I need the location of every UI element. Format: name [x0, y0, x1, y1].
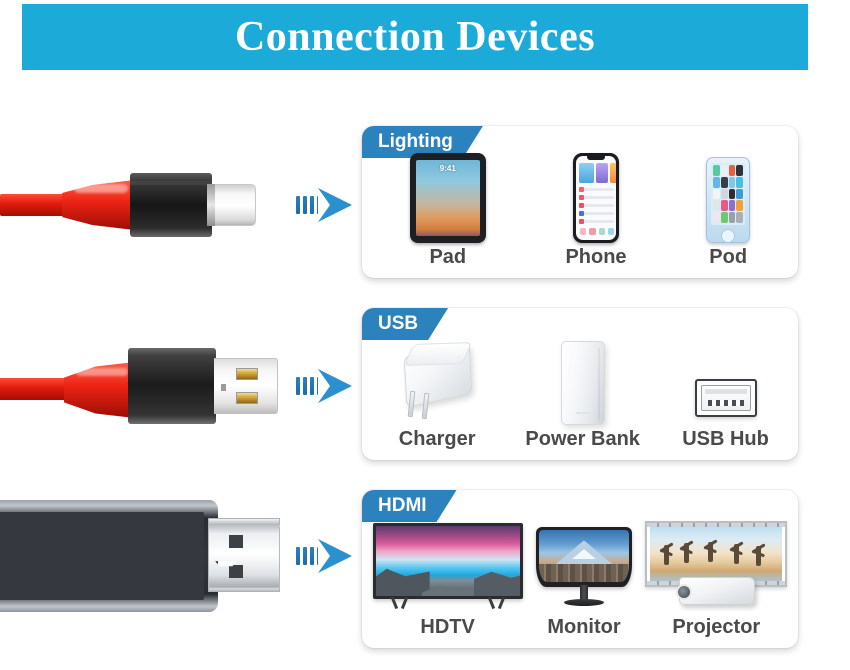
- iphone-icon: [573, 153, 619, 243]
- usb-a-plug: [214, 358, 278, 414]
- arrow-head: [318, 539, 352, 573]
- projector-screen-icon: [645, 521, 787, 613]
- hdmi-plug: [208, 524, 280, 588]
- hdmi-device-card: HDMI: [362, 490, 798, 648]
- ipod-app-grid: [711, 163, 745, 225]
- ipod-app-icon: [721, 165, 728, 176]
- device-label: Projector: [672, 616, 760, 638]
- cable-wire: [0, 194, 70, 216]
- ipod-app-icon: [736, 200, 743, 211]
- section-tag-hdmi: HDMI: [362, 490, 457, 522]
- device-item-hdtv[interactable]: HDTV: [373, 523, 523, 638]
- device-label: Monitor: [547, 616, 620, 638]
- section-lighting: Lighting 9:41 Pad: [0, 118, 850, 288]
- connector-housing: [128, 348, 216, 424]
- hdtv-icon: [373, 523, 523, 613]
- device-list: Charger Power Bank USB Hub: [362, 338, 798, 454]
- usb-notch: [221, 384, 226, 391]
- ipod-app-icon: [713, 165, 720, 176]
- charger-prong: [422, 393, 430, 419]
- ipod-app-icon: [729, 165, 736, 176]
- device-label: Charger: [399, 428, 476, 450]
- device-item-projector[interactable]: Projector: [645, 521, 787, 638]
- ipod-app-icon: [736, 177, 743, 188]
- ipod-app-icon: [736, 165, 743, 176]
- device-item-charger[interactable]: Charger: [391, 339, 483, 450]
- section-tag-usb: USB: [362, 308, 448, 340]
- ipod-app-icon: [736, 212, 743, 223]
- hdmi-pin: [229, 535, 243, 548]
- ipod-touch-icon: [706, 157, 750, 243]
- monitor-stand-base: [564, 599, 604, 606]
- ipod-home-button: [721, 229, 735, 243]
- usb-contact: [236, 368, 258, 380]
- power-bank-icon: [561, 341, 605, 425]
- device-item-power-bank[interactable]: Power Bank: [525, 341, 639, 450]
- cable-highlight: [74, 184, 128, 193]
- usb-a-connector: [0, 300, 358, 470]
- usb-port-icon: [695, 379, 757, 417]
- section-hdmi: HDMI: [0, 482, 850, 657]
- usb-device-card: USB Charger: [362, 308, 798, 460]
- hdmi-pin: [229, 565, 243, 578]
- cable-highlight: [76, 368, 128, 376]
- infographic-page: Connection Devices Lighting 9: [0, 0, 850, 670]
- ipod-app-icon: [736, 189, 743, 200]
- hdmi-rail: [208, 518, 280, 525]
- device-label: Pad: [429, 246, 466, 268]
- flow-arrow-right: [296, 369, 352, 403]
- projector-lens: [676, 584, 692, 600]
- ipod-app-icon: [729, 212, 736, 223]
- usb-contact: [236, 392, 258, 404]
- header-banner: Connection Devices: [22, 4, 808, 70]
- cable-wire: [0, 378, 72, 400]
- flow-arrow-right: [296, 188, 352, 222]
- hdmi-connector: [0, 482, 358, 657]
- arrow-head: [318, 188, 352, 222]
- device-item-phone[interactable]: Phone: [565, 153, 626, 268]
- device-item-monitor[interactable]: Monitor: [536, 527, 632, 638]
- ipod-app-icon: [729, 189, 736, 200]
- projector-unit: [679, 577, 755, 605]
- lightning-connector: [0, 118, 358, 288]
- lighting-device-card: Lighting 9:41 Pad: [362, 126, 798, 278]
- connector-housing: [130, 173, 212, 237]
- device-label: USB Hub: [682, 428, 769, 450]
- ipad-icon: 9:41: [410, 153, 486, 243]
- device-item-pod[interactable]: Pod: [706, 157, 750, 268]
- ipod-app-icon: [713, 189, 720, 200]
- flow-arrow-right: [296, 539, 352, 573]
- device-item-pad[interactable]: 9:41 Pad: [410, 153, 486, 268]
- iphone-notch: [587, 156, 605, 160]
- device-list: 9:41 Pad: [362, 156, 798, 272]
- ipod-app-icon: [721, 200, 728, 211]
- device-list: HDTV: [362, 520, 798, 642]
- wall-charger-icon: [391, 339, 483, 425]
- ipod-app-icon: [729, 200, 736, 211]
- lightning-tip: [210, 184, 256, 226]
- ipod-app-icon: [721, 189, 728, 200]
- ipod-app-icon: [713, 177, 720, 188]
- curved-monitor-icon: [536, 527, 632, 613]
- device-label: Pod: [709, 246, 747, 268]
- ipod-app-icon: [729, 177, 736, 188]
- ipad-screen-time: 9:41: [416, 164, 480, 173]
- ipod-app-icon: [713, 200, 720, 211]
- device-label: HDTV: [420, 616, 474, 638]
- connector-housing: [0, 500, 218, 612]
- device-label: Power Bank: [525, 428, 639, 450]
- device-label: Phone: [565, 246, 626, 268]
- page-title: Connection Devices: [235, 16, 595, 58]
- ipod-app-icon: [721, 212, 728, 223]
- ipod-app-icon: [721, 177, 728, 188]
- section-usb: USB Charger: [0, 300, 850, 470]
- ipod-app-icon: [713, 212, 720, 223]
- device-item-usb-hub[interactable]: USB Hub: [682, 379, 769, 450]
- arrow-head: [318, 369, 352, 403]
